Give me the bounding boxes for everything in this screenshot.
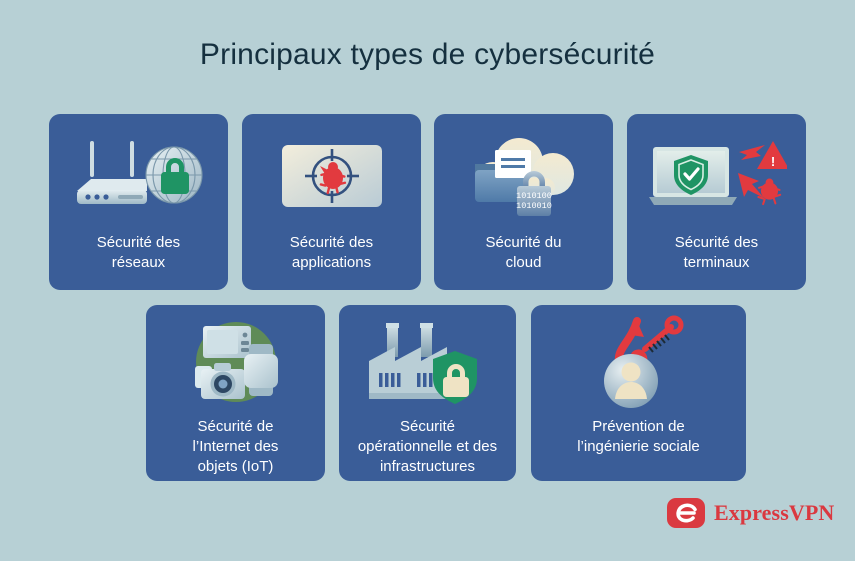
card-endpoint-security-label: Sécurité desterminaux — [634, 233, 799, 273]
factory-shield-lock-icon — [339, 313, 516, 413]
card-network-security[interactable]: Sécurité desréseaux — [49, 114, 228, 290]
card-operational-security-label: Sécuritéopérationnelle et desinfrastruct… — [346, 417, 509, 477]
card-endpoint-security[interactable]: ! Sécurité desterminaux — [627, 114, 806, 290]
card-iot-security[interactable]: Sécurité del’Internet desobjets (IoT) — [146, 305, 325, 481]
card-cloud-security[interactable]: 1010100 1010010 Sécurité ducloud — [434, 114, 613, 290]
fish-hook-user-icon — [531, 313, 746, 413]
smart-devices-circle-icon — [146, 313, 325, 413]
expressvpn-e-logo — [667, 498, 705, 528]
card-application-security[interactable]: Sécurité desapplications — [242, 114, 421, 290]
warning-exclamation: ! — [770, 154, 774, 169]
card-operational-security[interactable]: Sécuritéopérationnelle et desinfrastruct… — [339, 305, 516, 481]
card-iot-security-label: Sécurité del’Internet desobjets (IoT) — [153, 417, 318, 477]
window-target-bug-icon — [242, 122, 421, 227]
card-application-security-label: Sécurité desapplications — [249, 233, 414, 273]
card-social-engineering-label: Prévention del’ingénierie sociale — [540, 417, 738, 457]
cloud-folder-lock-icon: 1010100 1010010 — [434, 122, 613, 227]
router-globe-lock-icon — [49, 122, 228, 227]
card-cloud-security-label: Sécurité ducloud — [441, 233, 606, 273]
expressvpn-wordmark: ExpressVPN — [714, 500, 834, 526]
laptop-shield-threats-icon: ! — [627, 122, 806, 227]
cloud-binary-line-1: 1010100 — [516, 191, 552, 201]
page-title: Principaux types de cybersécurité — [0, 38, 855, 72]
card-social-engineering-prevention[interactable]: Prévention del’ingénierie sociale — [531, 305, 746, 481]
expressvpn-logo[interactable]: ExpressVPN — [667, 498, 834, 528]
card-network-security-label: Sécurité desréseaux — [56, 233, 221, 273]
cloud-binary-line-2: 1010010 — [516, 201, 552, 211]
